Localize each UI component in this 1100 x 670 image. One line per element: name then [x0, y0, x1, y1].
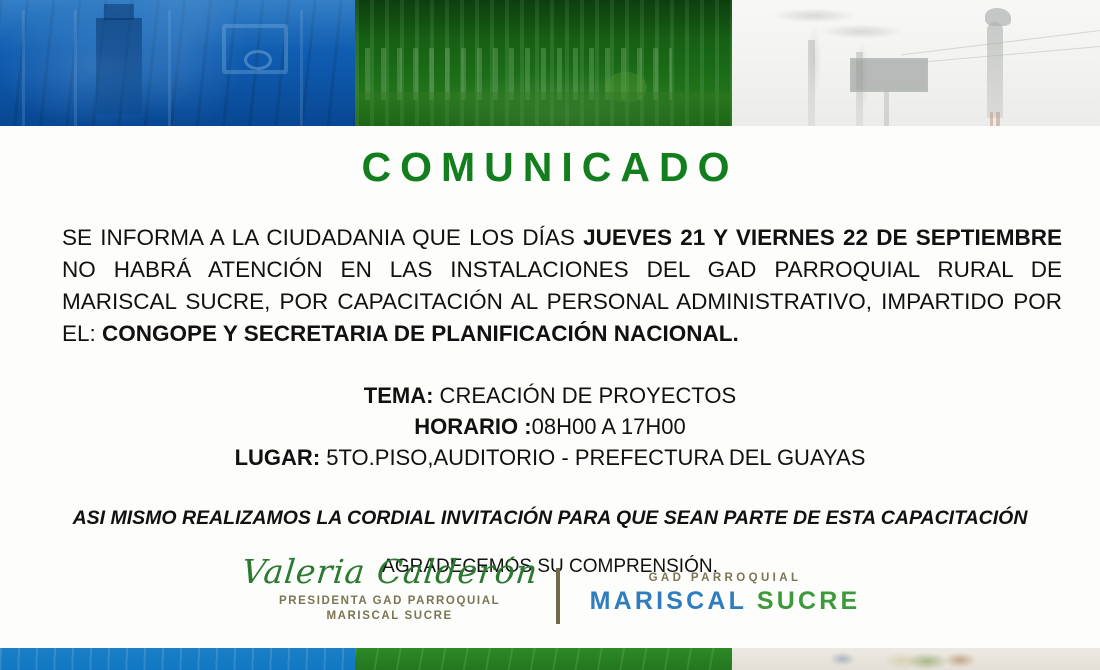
notice-text-part1: SE INFORMA A LA CIUDADANIA QUE LOS DÍAS — [62, 225, 583, 250]
signature-role-line2: MARISCAL SUCRE — [240, 609, 540, 624]
detail-row-horario: HORARIO :08H00 A 17H00 — [0, 411, 1100, 442]
signature-role-line1: PRESIDENTA GAD PARROQUIAL — [240, 594, 540, 609]
photo-base — [355, 648, 732, 670]
invitation-line: ASI MISMO REALIZAMOS LA CORDIAL INVITACI… — [0, 507, 1100, 530]
blue-photo-band — [0, 648, 355, 670]
detail-value-tema: CREACIÓN DE PROYECTOS — [433, 383, 736, 408]
green-photo-band — [355, 648, 732, 670]
photo-base — [732, 648, 1100, 670]
vertical-divider — [556, 568, 560, 624]
comunicado-poster: COMUNICADO SE INFORMA A LA CIUDADANIA QU… — [0, 0, 1100, 670]
detail-row-lugar: LUGAR: 5TO.PISO,AUDITORIO - PREFECTURA D… — [0, 442, 1100, 473]
notice-dates-bold: JUEVES 21 Y VIERNES 22 DE SEPTIEMBRE — [583, 225, 1062, 250]
washed-out-overlay — [732, 0, 1100, 126]
park-fence-lawn-photo — [355, 0, 732, 126]
gad-logo: GAD PARROQUIAL MARISCAL SUCRE — [590, 550, 861, 616]
logo-main-line: MARISCAL SUCRE — [590, 587, 861, 616]
detail-label-tema: TEMA: — [364, 383, 434, 408]
signature-name: Valeria Calderón — [238, 552, 542, 592]
detail-label-horario: HORARIO : — [414, 414, 531, 439]
detail-value-lugar: 5TO.PISO,AUDITORIO - PREFECTURA DEL GUAY… — [320, 445, 865, 470]
page-title: COMUNICADO — [0, 147, 1100, 188]
logo-word-sucre: SUCRE — [757, 587, 861, 615]
signature-logo-block: Valeria Calderón PRESIDENTA GAD PARROQUI… — [0, 550, 1100, 642]
plaza-basketball-court-photo — [0, 0, 355, 126]
palms-heron-monument-photo — [732, 0, 1100, 126]
footer-photo-strip — [0, 648, 1100, 670]
detail-label-lugar: LUGAR: — [235, 445, 321, 470]
notice-entities-bold: CONGOPE Y SECRETARIA DE PLANIFICACIÓN NA… — [102, 321, 739, 346]
signature-role: PRESIDENTA GAD PARROQUIAL MARISCAL SUCRE — [240, 594, 540, 624]
signature-block: Valeria Calderón PRESIDENTA GAD PARROQUI… — [240, 550, 540, 624]
detail-row-tema: TEMA: CREACIÓN DE PROYECTOS — [0, 380, 1100, 411]
notice-paragraph: SE INFORMA A LA CIUDADANIA QUE LOS DÍAS … — [62, 222, 1062, 350]
logo-top-line: GAD PARROQUIAL — [590, 572, 861, 584]
photo-base — [0, 648, 355, 670]
blue-tint-overlay — [0, 0, 355, 126]
logo-word-mariscal: MARISCAL — [590, 587, 747, 615]
detail-value-horario: 08H00 A 17H00 — [532, 414, 686, 439]
header-photo-strip — [0, 0, 1100, 126]
event-details: TEMA: CREACIÓN DE PROYECTOS HORARIO :08H… — [0, 380, 1100, 473]
poster-body: COMUNICADO SE INFORMA A LA CIUDADANIA QU… — [0, 126, 1100, 648]
cacao-harvest-photo-band — [732, 648, 1100, 670]
green-tint-overlay — [355, 0, 732, 126]
